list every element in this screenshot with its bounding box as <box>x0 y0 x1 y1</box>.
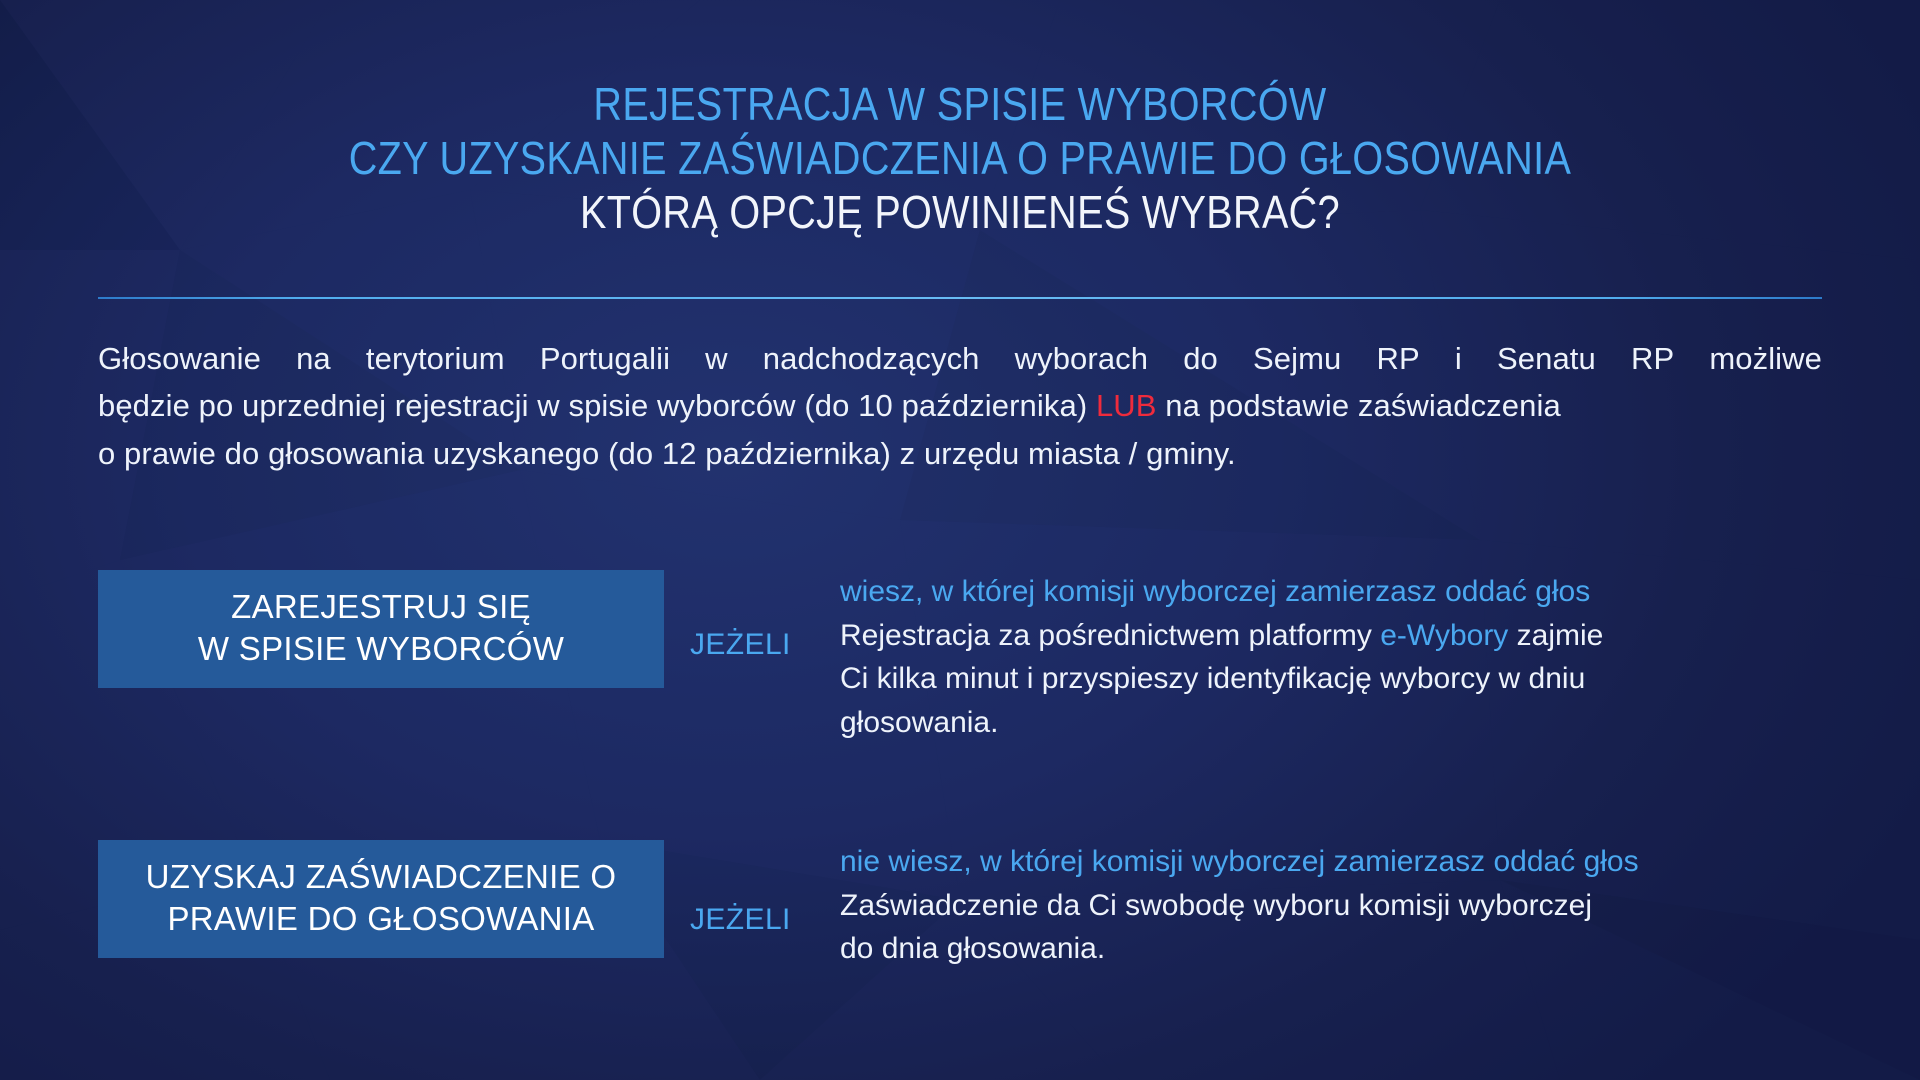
headline-line-2: CZY UZYSKANIE ZAŚWIADCZENIA O PRAWIE DO … <box>134 132 1785 186</box>
body-highlight-ewybory: e-Wybory <box>1380 619 1508 652</box>
intro-word: w <box>705 335 728 382</box>
intro-word: na <box>296 335 331 382</box>
body-text-post: zajmie <box>1508 619 1603 652</box>
intro-highlight-lub: LUB <box>1096 388 1157 423</box>
option-body-certificate: Zaświadczenie da Ci swobodę wyboru komis… <box>840 884 1840 970</box>
body-line-1: Rejestracja za pośrednictwem platformy e… <box>840 614 1840 657</box>
intro-word: RP <box>1377 335 1420 382</box>
page-title: REJESTRACJA W SPISIE WYBORCÓW CZY UZYSKA… <box>0 78 1920 239</box>
intro-word: Głosowanie <box>98 335 261 382</box>
chip-line-1: ZAREJESTRUJ SIĘ <box>108 586 654 628</box>
option-chip-certificate[interactable]: UZYSKAJ ZAŚWIADCZENIE O PRAWIE DO GŁOSOW… <box>98 840 664 958</box>
intro-line-3: o prawie do głosowania uzyskanego (do 12… <box>98 430 1822 477</box>
intro-text-post: na podstawie zaświadczenia <box>1157 388 1561 423</box>
body-line-2: Ci kilka minut i przyspieszy identyfikac… <box>840 657 1840 700</box>
chip-line-1: UZYSKAJ ZAŚWIADCZENIE O <box>108 856 654 898</box>
option-chip-register[interactable]: ZAREJESTRUJ SIĘ W SPISIE WYBORCÓW <box>98 570 664 688</box>
infographic-poster: REJESTRACJA W SPISIE WYBORCÓW CZY UZYSKA… <box>0 0 1920 1080</box>
body-line-2: do dnia głosowania. <box>840 927 1840 970</box>
intro-text-pre: będzie po uprzedniej rejestracji w spisi… <box>98 388 1096 423</box>
body-line-1: Zaświadczenie da Ci swobodę wyboru komis… <box>840 884 1840 927</box>
connector-label-certificate: JEŻELI <box>690 903 810 937</box>
intro-word: Portugalii <box>540 335 670 382</box>
option-body-register: Rejestracja za pośrednictwem platformy e… <box>840 614 1840 744</box>
header-divider <box>98 297 1822 299</box>
intro-paragraph: Głosowanie na terytorium Portugalii w na… <box>98 335 1822 477</box>
option-condition-certificate: nie wiesz, w której komisji wyborczej za… <box>840 840 1840 883</box>
intro-word: wyborach <box>1015 335 1148 382</box>
headline-line-3: KTÓRĄ OPCJĘ POWINIENEŚ WYBRAĆ? <box>134 186 1785 240</box>
option-description-certificate: nie wiesz, w której komisji wyborczej za… <box>840 840 1840 971</box>
intro-word: możliwe <box>1709 335 1822 382</box>
connector-label-register: JEŻELI <box>690 628 810 662</box>
intro-word: Sejmu <box>1253 335 1341 382</box>
option-description-register: wiesz, w której komisji wyborczej zamier… <box>840 570 1840 744</box>
intro-word: Senatu <box>1497 335 1596 382</box>
intro-word: RP <box>1631 335 1674 382</box>
intro-word: do <box>1183 335 1218 382</box>
intro-word: nadchodzących <box>763 335 980 382</box>
intro-word: terytorium <box>366 335 505 382</box>
chip-line-2: W SPISIE WYBORCÓW <box>108 628 654 670</box>
option-condition-register: wiesz, w której komisji wyborczej zamier… <box>840 570 1840 613</box>
intro-line-1: Głosowanie na terytorium Portugalii w na… <box>98 335 1822 382</box>
headline-line-1: REJESTRACJA W SPISIE WYBORCÓW <box>134 78 1785 132</box>
chip-line-2: PRAWIE DO GŁOSOWANIA <box>108 898 654 940</box>
intro-line-2: będzie po uprzedniej rejestracji w spisi… <box>98 382 1822 429</box>
body-text-pre: Rejestracja za pośrednictwem platformy <box>840 619 1380 652</box>
intro-word: i <box>1455 335 1462 382</box>
body-line-3: głosowania. <box>840 701 1840 744</box>
